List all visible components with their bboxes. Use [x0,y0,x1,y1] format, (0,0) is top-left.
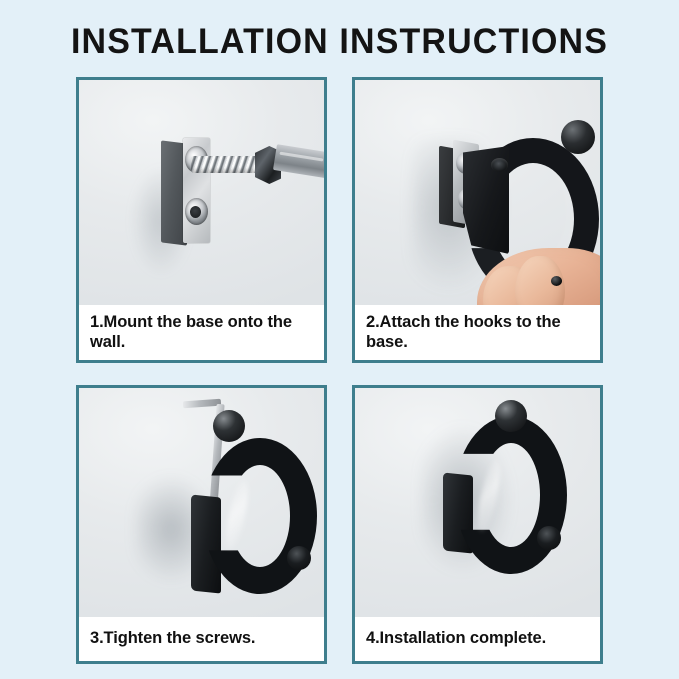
hook-with-allen-key-illustration [79,388,324,617]
step-4-caption: 4.Installation complete. [355,617,600,661]
installation-instructions-page: INSTALLATION INSTRUCTIONS 1.Mount the ba… [0,0,679,679]
step-1-caption: 1.Mount the base onto the wall. [79,305,324,360]
step-panel-3: 3.Tighten the screws. [76,385,327,664]
hook-set-screw-hole [491,158,508,172]
hook-lower-tip [537,526,561,550]
completed-hook-illustration [355,388,600,617]
step-2-caption: 2.Attach the hooks to the base. [355,305,600,360]
step-panel-2: 2.Attach the hooks to the base. [352,77,603,363]
step-4-image [355,388,600,617]
hook-wall-mount [191,494,221,593]
step-3-caption: 3.Tighten the screws. [79,617,324,661]
hook-gloss-highlight [222,479,252,551]
step-3-image [79,388,324,617]
page-title: INSTALLATION INSTRUCTIONS [10,22,669,62]
steps-grid: 1.Mount the base onto the wall. [76,77,603,664]
hook-top-knob [561,120,595,154]
wall-base-illustration [79,80,324,305]
step-panel-1: 1.Mount the base onto the wall. [76,77,327,363]
step-2-image [355,80,600,305]
small-screw-icon [551,276,562,286]
hook-attach-illustration [355,80,600,305]
screw-thread-icon [191,156,265,173]
hook-lower-tip [287,546,311,570]
screw-hole-lower-bore [190,206,201,218]
step-panel-4: 4.Installation complete. [352,385,603,664]
step-1-image [79,80,324,305]
hook-top-ball [495,400,527,432]
hook-top-ball [213,410,245,442]
